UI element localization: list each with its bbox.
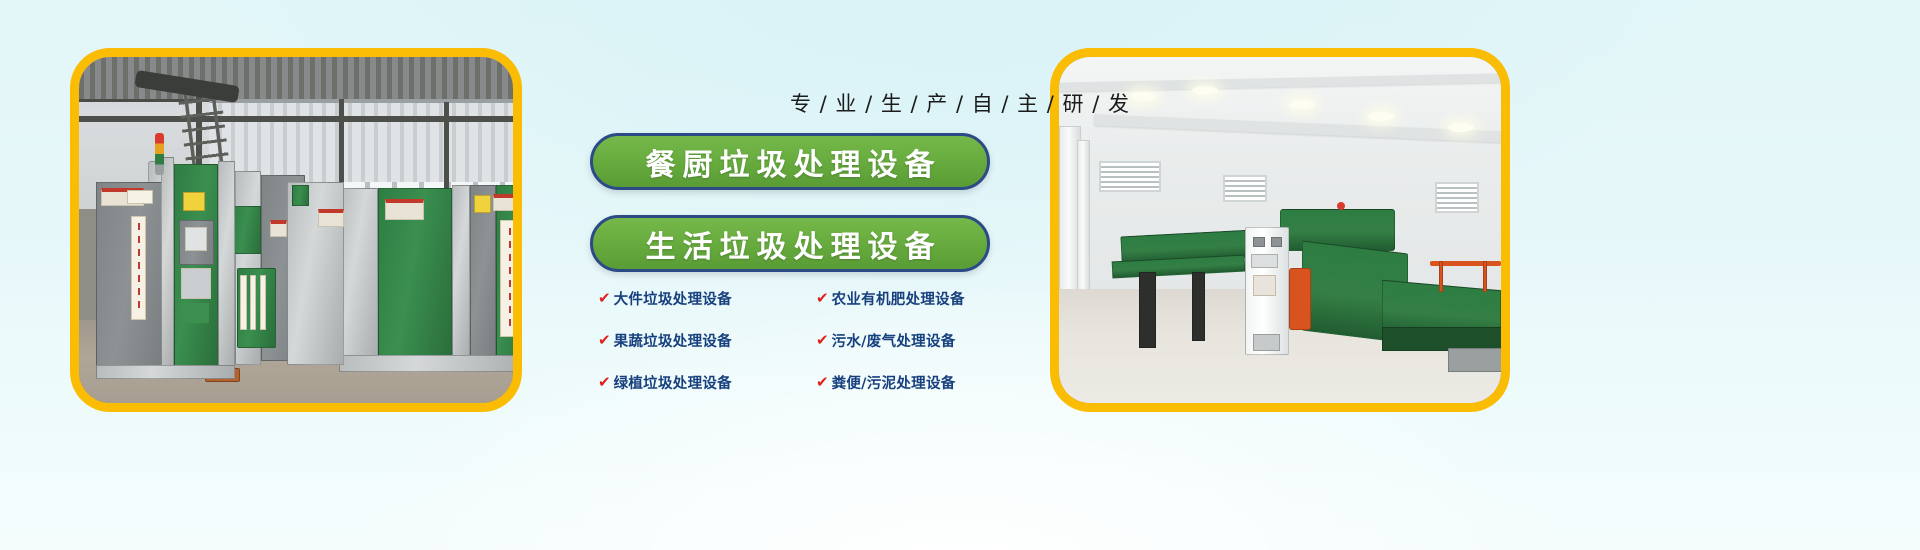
check-icon: ✔ [816,375,829,390]
list-item-label: 粪便/污泥处理设备 [832,372,956,393]
list-item[interactable]: ✔ 农业有机肥处理设备 [816,288,1018,309]
photo-left-image [79,57,513,403]
pill-button-catering-waste[interactable]: 餐厨垃圾处理设备 [590,133,990,190]
check-icon: ✔ [598,375,611,390]
promo-banner: 专 / 业 / 生 / 产 / 自 / 主 / 研 / 发 餐厨垃圾处理设备 生… [0,0,1920,550]
pill-label: 生活垃圾处理设备 [639,222,942,266]
tagline: 专 / 业 / 生 / 产 / 自 / 主 / 研 / 发 [560,88,1360,118]
list-item-label: 果蔬垃圾处理设备 [614,330,732,351]
check-icon: ✔ [598,333,611,348]
list-item[interactable]: ✔ 绿植垃圾处理设备 [598,372,800,393]
list-item-label: 大件垃圾处理设备 [614,288,732,309]
equipment-list: ✔ 大件垃圾处理设备 ✔ 农业有机肥处理设备 ✔ 果蔬垃圾处理设备 ✔ 污水/废… [598,288,1018,393]
center-content: 专 / 业 / 生 / 产 / 自 / 主 / 研 / 发 餐厨垃圾处理设备 生… [560,0,1360,550]
list-item[interactable]: ✔ 粪便/污泥处理设备 [816,372,1018,393]
list-item-label: 绿植垃圾处理设备 [614,372,732,393]
list-item-label: 污水/废气处理设备 [832,330,956,351]
check-icon: ✔ [816,291,829,306]
pill-button-domestic-waste[interactable]: 生活垃圾处理设备 [590,215,990,272]
list-item[interactable]: ✔ 污水/废气处理设备 [816,330,1018,351]
list-item-label: 农业有机肥处理设备 [832,288,965,309]
pill-label: 餐厨垃圾处理设备 [639,140,942,184]
list-item[interactable]: ✔ 大件垃圾处理设备 [598,288,800,309]
list-item[interactable]: ✔ 果蔬垃圾处理设备 [598,330,800,351]
check-icon: ✔ [816,333,829,348]
photo-left[interactable] [70,48,522,412]
check-icon: ✔ [598,291,611,306]
